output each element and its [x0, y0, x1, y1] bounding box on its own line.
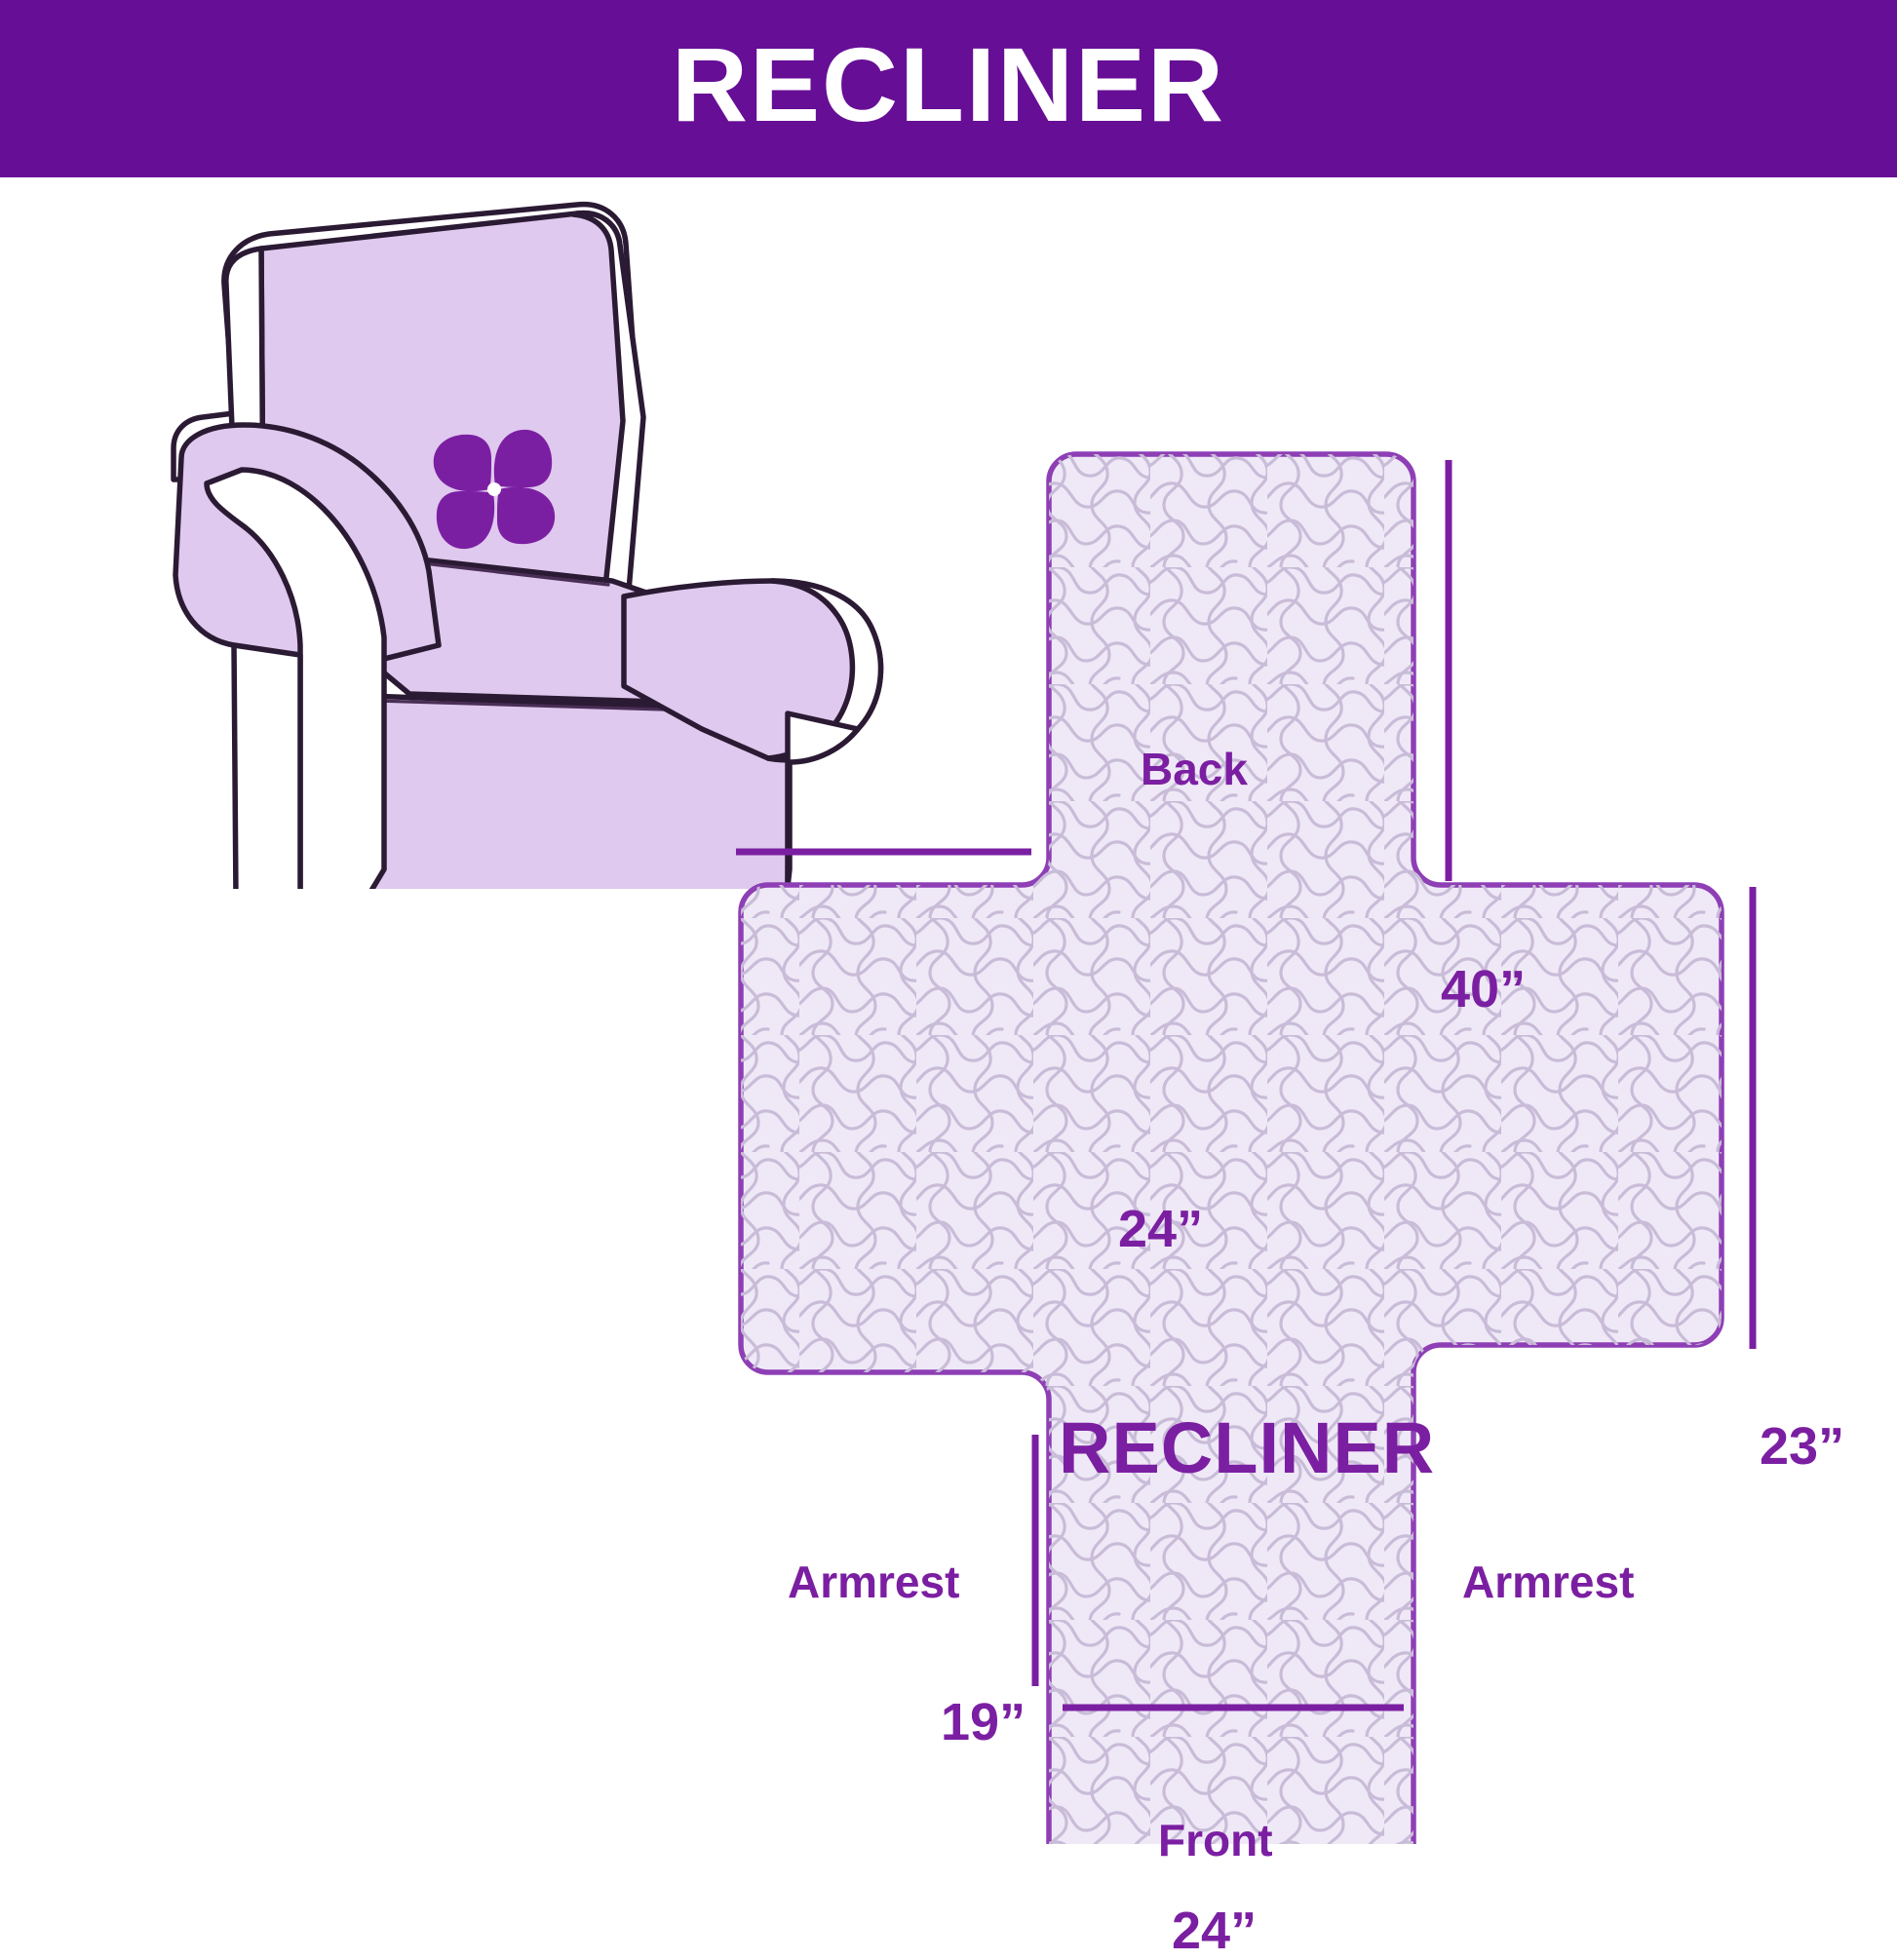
- dimension-label-top-width: 24”: [1118, 1203, 1203, 1255]
- panel-label-armrest-right: Armrest: [1462, 1559, 1634, 1604]
- panel-label-front: Front: [1158, 1818, 1273, 1863]
- dimension-label-front-width: 24”: [1172, 1904, 1257, 1957]
- dimension-label-front-height: 19”: [941, 1696, 1026, 1749]
- panel-label-armrest-left: Armrest: [788, 1559, 959, 1604]
- header-banner: RECLINER: [0, 0, 1897, 177]
- dimension-label-armrest-span-height: 23”: [1760, 1420, 1844, 1473]
- panel-label-center: RECLINER: [1059, 1412, 1435, 1484]
- dimension-label-back-height: 40”: [1441, 963, 1526, 1016]
- panel-label-back: Back: [1141, 747, 1248, 791]
- cover-cross-diagram: [682, 450, 1881, 1844]
- diagram-stage: .ol { fill:none; stroke:#2B1A33; stroke-…: [0, 177, 1897, 1897]
- page-title: RECLINER: [672, 32, 1225, 137]
